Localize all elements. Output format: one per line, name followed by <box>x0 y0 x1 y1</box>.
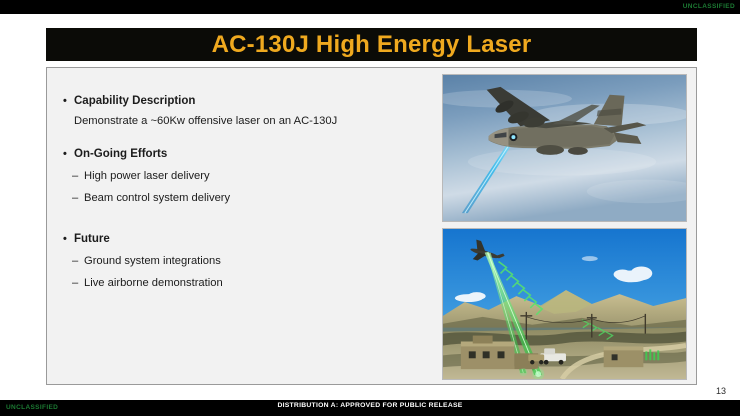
bullet-list: • Capability Description Demonstrate a ~… <box>63 94 433 291</box>
dash-icon: – <box>72 169 84 184</box>
bullet-dot-icon: • <box>63 147 74 162</box>
bullet-group-capability-description: • Capability Description Demonstrate a ~… <box>63 94 433 129</box>
bullet-group-future: • Future – Ground system integrations – … <box>63 232 433 291</box>
page-title: AC-130J High Energy Laser <box>212 31 532 59</box>
ac-130j-gunship-firing-laser-photo <box>442 74 687 222</box>
distribution-statement: DISTRIBUTION A: APPROVED FOR PUBLIC RELE… <box>0 402 740 409</box>
slide-title-bar: AC-130J High Energy Laser <box>46 28 697 61</box>
classification-label-top: UNCLASSIFIED <box>683 0 735 14</box>
bullet-heading-row: • Capability Description <box>63 94 433 109</box>
bullet-dot-icon: • <box>63 232 74 247</box>
bullet-heading-on-going-efforts: On-Going Efforts <box>74 147 167 162</box>
page-number: 13 <box>716 386 726 396</box>
bullet-dot-icon: • <box>63 94 74 109</box>
dash-icon: – <box>72 254 84 269</box>
bullet-heading-capability-description: Capability Description <box>74 94 195 109</box>
slide-content-panel: • Capability Description Demonstrate a ~… <box>46 67 697 385</box>
list-item: – High power laser delivery <box>63 169 433 184</box>
sub-bullet-live-airborne-demonstration: Live airborne demonstration <box>84 276 223 291</box>
list-item: – Live airborne demonstration <box>63 276 433 291</box>
list-item: – Ground system integrations <box>63 254 433 269</box>
dash-icon: – <box>72 276 84 291</box>
sub-bullet-high-power-laser-delivery: High power laser delivery <box>84 169 210 184</box>
sub-bullet-ground-system-integrations: Ground system integrations <box>84 254 221 269</box>
bullet-heading-row: • On-Going Efforts <box>63 147 433 162</box>
bullet-group-on-going-efforts: • On-Going Efforts – High power laser de… <box>63 147 433 206</box>
classification-banner-bottom: UNCLASSIFIED DISTRIBUTION A: APPROVED FO… <box>0 400 740 416</box>
classification-banner-top: UNCLASSIFIED <box>0 0 740 14</box>
dash-icon: – <box>72 191 84 206</box>
bullet-heading-row: • Future <box>63 232 433 247</box>
sub-bullet-beam-control-system-delivery: Beam control system delivery <box>84 191 230 206</box>
bullet-detail-capability-description: Demonstrate a ~60Kw offensive laser on a… <box>63 114 433 129</box>
laser-engagement-valley-concept-art <box>442 228 687 380</box>
bullet-heading-future: Future <box>74 232 110 247</box>
list-item: – Beam control system delivery <box>63 191 433 206</box>
